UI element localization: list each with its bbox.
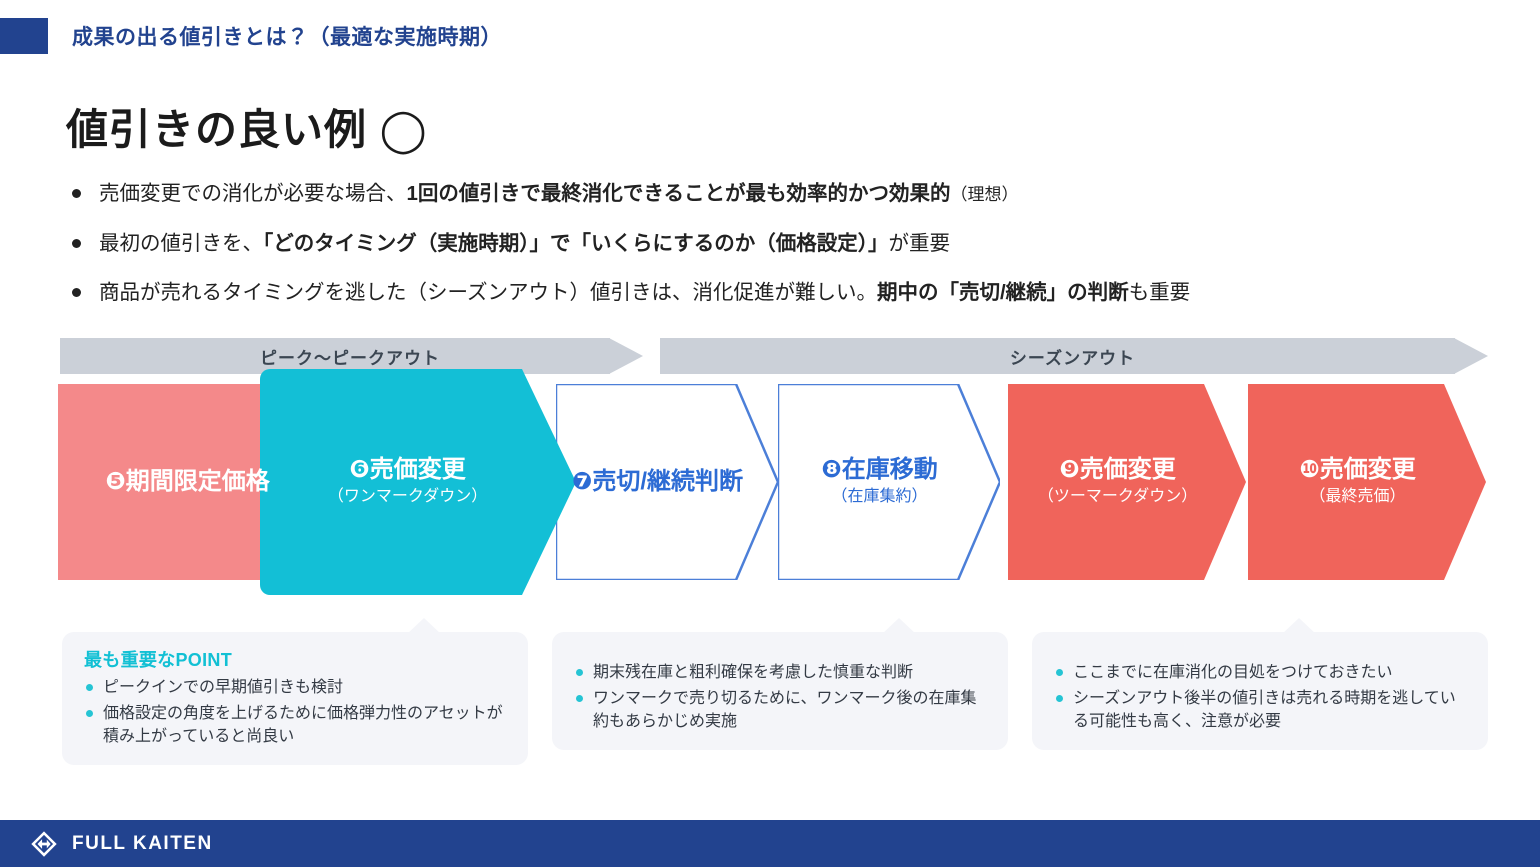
step-title: ❼売切/継続判断 xyxy=(572,468,743,496)
callout-bullet-dot-icon xyxy=(1056,669,1063,676)
flow-step[interactable]: ❾売価変更（ツーマークダウン） xyxy=(1008,384,1246,580)
brand-name: FULL KAITEN xyxy=(72,833,213,855)
step-content: ❼売切/継続判断 xyxy=(556,384,778,580)
bullet-text-segment: 1回の値引きで最終消化できることが最も効率的かつ効果的 xyxy=(407,182,951,205)
callout-item-text: ピークインでの早期値引きも検討 xyxy=(103,676,343,699)
callout-bullet-dot-icon xyxy=(86,710,93,717)
header-accent-bar xyxy=(0,18,48,54)
flow-step[interactable]: ❻売価変更（ワンマークダウン） xyxy=(282,384,552,580)
step-number: ❿ xyxy=(1299,456,1319,484)
bullet-item: 売価変更での消化が必要な場合、1回の値引きで最終消化できることが最も効率的かつ効… xyxy=(66,180,1496,208)
callout-box: ここまでに在庫消化の目処をつけておきたいシーズンアウト後半の値引きは売れる時期を… xyxy=(1032,632,1488,750)
callout-item-text: ここまでに在庫消化の目処をつけておきたい xyxy=(1073,661,1393,684)
step-title: ❿売価変更 xyxy=(1299,456,1415,484)
phase-arrow-head-icon xyxy=(609,338,643,374)
callout-item-text: シーズンアウト後半の値引きは売れる時期を逃している可能性も高く、注意が必要 xyxy=(1073,687,1468,733)
header-title: 成果の出る値引きとは？（最適な実施時期） xyxy=(72,21,502,51)
callout-list-item: ここまでに在庫消化の目処をつけておきたい xyxy=(1054,661,1468,684)
page-title: 値引きの良い例 ◯ xyxy=(66,96,428,157)
bullet-dot-icon xyxy=(72,189,81,198)
step-subtitle: （ワンマークダウン） xyxy=(328,487,487,508)
callout-notes: 最も重要なPOINTピークインでの早期値引きも検討価格設定の角度を上げるために価… xyxy=(0,618,1540,778)
step-title-text: 期間限定価格 xyxy=(126,468,270,495)
step-title-text: 売価変更 xyxy=(1080,456,1176,483)
step-subtitle: （最終売価） xyxy=(1299,487,1415,508)
step-title-text: 売価変更 xyxy=(370,456,466,483)
step-label: ❿売価変更（最終売価） xyxy=(1289,456,1425,507)
step-label: ❺期間限定価格 xyxy=(95,468,279,496)
callout-list-item: ピークインでの早期値引きも検討 xyxy=(84,676,508,699)
bullet-list: 売価変更での消化が必要な場合、1回の値引きで最終消化できることが最も効率的かつ効… xyxy=(66,180,1496,329)
step-title: ❽在庫移動 xyxy=(821,456,937,484)
step-number: ❻ xyxy=(349,456,369,484)
step-title-text: 在庫移動 xyxy=(842,456,938,483)
phase-label: ピーク〜ピークアウト xyxy=(260,344,440,369)
step-flow: ❺期間限定価格❻売価変更（ワンマークダウン）❼売切/継続判断❽在庫移動（在庫集約… xyxy=(0,384,1540,596)
step-number: ❽ xyxy=(821,456,841,484)
callout-list-item: シーズンアウト後半の値引きは売れる時期を逃している可能性も高く、注意が必要 xyxy=(1054,687,1468,733)
bullet-text: 最初の値引きを、「どのタイミング（実施時期）」で「いくらにするのか（価格設定）」… xyxy=(99,230,950,258)
bullet-item: 商品が売れるタイミングを逃した（シーズンアウト）値引きは、消化促進が難しい。期中… xyxy=(66,279,1496,307)
callout-item-text: ワンマークで売り切るために、ワンマーク後の在庫集約もあらかじめ実施 xyxy=(593,687,988,733)
bullet-text-segment: 商品が売れるタイミングを逃した（シーズンアウト）値引きは、消化促進が難しい。 xyxy=(99,281,877,304)
bullet-text-segment: 期中の「売切/継続」の判断 xyxy=(877,281,1129,304)
callout-item-text: 価格設定の角度を上げるために価格弾力性のアセットが積み上がっていると尚良い xyxy=(103,702,508,748)
bullet-dot-icon xyxy=(72,239,81,248)
step-title: ❾売価変更 xyxy=(1038,456,1197,484)
step-number: ❾ xyxy=(1059,456,1079,484)
bullet-text-segment: 売価変更での消化が必要な場合、 xyxy=(99,182,407,205)
callout-item-text: 期末残在庫と粗利確保を考慮した慎重な判断 xyxy=(593,661,913,684)
step-label: ❽在庫移動（在庫集約） xyxy=(811,456,947,507)
flow-step[interactable]: ❿売価変更（最終売価） xyxy=(1248,384,1486,580)
step-subtitle: （ツーマークダウン） xyxy=(1038,487,1197,508)
step-title: ❻売価変更 xyxy=(328,456,487,484)
step-label: ❼売切/継続判断 xyxy=(562,468,753,496)
bullet-text-segment: も重要 xyxy=(1129,281,1191,304)
bullet-text-segment: （理想） xyxy=(951,185,1019,204)
flow-step[interactable]: ❽在庫移動（在庫集約） xyxy=(778,384,1000,580)
step-number: ❼ xyxy=(572,468,592,496)
slide-header: 成果の出る値引きとは？（最適な実施時期） xyxy=(0,18,502,54)
callout-list-item: 期末残在庫と粗利確保を考慮した慎重な判断 xyxy=(574,661,988,684)
callout-box: 期末残在庫と粗利確保を考慮した慎重な判断ワンマークで売り切るために、ワンマーク後… xyxy=(552,632,1008,750)
bullet-item: 最初の値引きを、「どのタイミング（実施時期）」で「いくらにするのか（価格設定）」… xyxy=(66,230,1496,258)
full-kaiten-logo-icon xyxy=(30,830,58,858)
bullet-dot-icon xyxy=(72,288,81,297)
step-content: ❽在庫移動（在庫集約） xyxy=(778,384,1000,580)
step-title-text: 売切/継続判断 xyxy=(592,468,743,495)
bullet-text: 商品が売れるタイミングを逃した（シーズンアウト）値引きは、消化促進が難しい。期中… xyxy=(99,279,1190,307)
step-subtitle: （在庫集約） xyxy=(821,487,937,508)
phase-label: シーズンアウト xyxy=(1010,344,1135,369)
step-content: ❾売価変更（ツーマークダウン） xyxy=(1008,384,1246,580)
phase-arrow: シーズンアウト xyxy=(660,338,1485,374)
callout-bullet-dot-icon xyxy=(1056,695,1063,702)
bullet-text: 売価変更での消化が必要な場合、1回の値引きで最終消化できることが最も効率的かつ効… xyxy=(99,180,1019,208)
phase-arrow-head-icon xyxy=(1454,338,1488,374)
step-title-text: 売価変更 xyxy=(1320,456,1416,483)
step-content: ❿売価変更（最終売価） xyxy=(1248,384,1486,580)
callout-heading: 最も重要なPOINT xyxy=(84,646,508,672)
step-number: ❺ xyxy=(105,468,125,496)
callout-box: 最も重要なPOINTピークインでの早期値引きも検討価格設定の角度を上げるために価… xyxy=(62,632,528,765)
bullet-text-segment: が重要 xyxy=(888,232,950,255)
callout-list-item: 価格設定の角度を上げるために価格弾力性のアセットが積み上がっていると尚良い xyxy=(84,702,508,748)
bullet-text-segment: 「どのタイミング（実施時期）」で「いくらにするのか（価格設定）」 xyxy=(263,232,888,255)
callout-bullet-dot-icon xyxy=(86,684,93,691)
callout-list-item: ワンマークで売り切るために、ワンマーク後の在庫集約もあらかじめ実施 xyxy=(574,687,988,733)
callout-bullet-dot-icon xyxy=(576,669,583,676)
callout-bullet-dot-icon xyxy=(576,695,583,702)
step-label: ❻売価変更（ワンマークダウン） xyxy=(318,456,497,507)
step-label: ❾売価変更（ツーマークダウン） xyxy=(1028,456,1207,507)
slide-footer: FULL KAITEN xyxy=(0,820,1540,867)
step-title: ❺期間限定価格 xyxy=(105,468,269,496)
bullet-text-segment: 最初の値引きを、 xyxy=(99,232,263,255)
flow-step[interactable]: ❼売切/継続判断 xyxy=(556,384,778,580)
